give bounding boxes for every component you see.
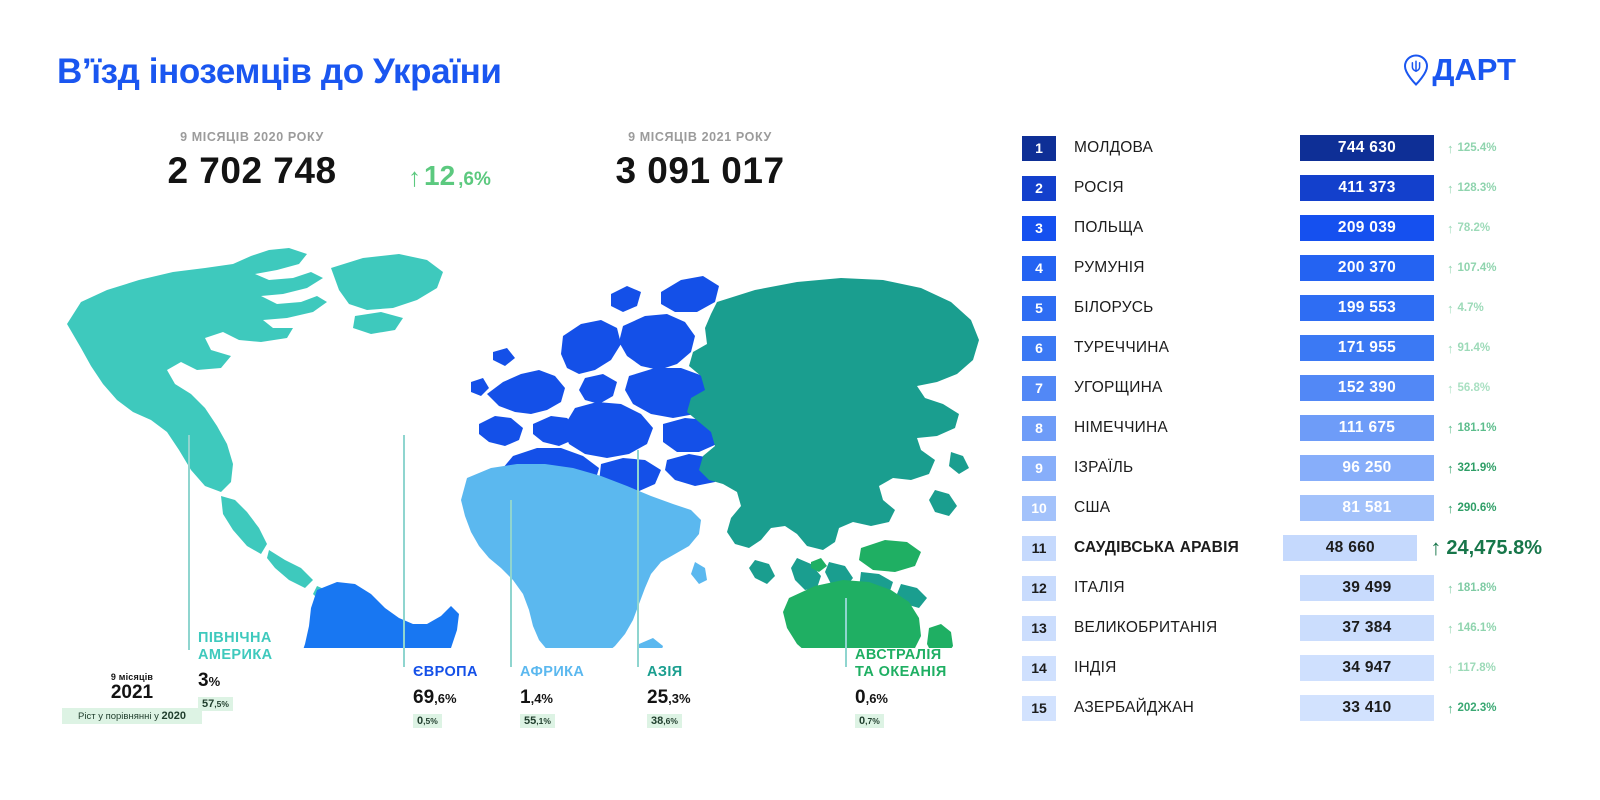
- value-bar: 96 250: [1300, 455, 1434, 481]
- continent-share: 3%: [198, 670, 272, 692]
- table-row[interactable]: 3 ПОЛЬЩА 209 039 ↑ 78.2%: [1022, 208, 1542, 248]
- rank-badge: 13: [1022, 616, 1056, 641]
- growth-percent: ↑ 117.8%: [1434, 662, 1542, 675]
- growth-percent: ↑ 24,475.8%: [1417, 537, 1542, 560]
- table-row[interactable]: 6 ТУРЕЧЧИНА 171 955 ↑ 91.4%: [1022, 328, 1542, 368]
- arrow-up-icon: ↑: [1430, 537, 1441, 559]
- growth-integer: 57: [202, 698, 214, 710]
- continent-name-line2: ТА ОКЕАНІЯ: [855, 664, 947, 680]
- rank-badge: 12: [1022, 576, 1056, 601]
- growth-percent: ↑ 202.3%: [1434, 702, 1542, 715]
- delta-integer: 12: [424, 160, 455, 192]
- delta-fraction: ,6%: [458, 169, 491, 191]
- callout-stem: [845, 598, 847, 667]
- country-name: ІТАЛІЯ: [1056, 579, 1300, 597]
- ranking-table: 1 МОЛДОВА 744 630 ↑ 125.4% 2 РОСІЯ 411 3…: [1022, 128, 1542, 728]
- growth-value: 128.3%: [1458, 182, 1497, 194]
- continent-name-line1: АВСТРАЛІЯ: [855, 647, 942, 663]
- legend-growth-prefix: Ріст у порівнянні у: [78, 711, 161, 722]
- continent-share: 25,3%: [647, 687, 691, 709]
- growth-percent: ↑ 107.4%: [1434, 262, 1542, 275]
- brand-logo: ДАРТ: [1403, 52, 1516, 88]
- value-bar: 744 630: [1300, 135, 1434, 161]
- arrow-up-icon: ↑: [1447, 222, 1454, 235]
- callout-content: АВСТРАЛІЯ ТА ОКЕАНІЯ 0,6% 0,7%: [855, 647, 947, 729]
- share-fraction: ,6%: [866, 691, 888, 706]
- continent-growth: 55,1%: [520, 714, 555, 728]
- continent-growth: 38,6%: [647, 714, 682, 728]
- value-bar: 81 581: [1300, 495, 1434, 521]
- growth-percent: ↑ 181.8%: [1434, 582, 1542, 595]
- continent-growth: 57,5%: [198, 697, 233, 711]
- country-name: МОЛДОВА: [1056, 139, 1300, 157]
- stat-value-2021: 3 091 017: [600, 150, 800, 192]
- arrow-up-icon: ↑: [1447, 182, 1454, 195]
- share-integer: 0: [855, 687, 866, 708]
- share-fraction: ,3%: [668, 691, 690, 706]
- country-name: УГОРЩИНА: [1056, 379, 1300, 397]
- country-name: ВЕЛИКОБРИТАНІЯ: [1056, 619, 1300, 637]
- rank-badge: 7: [1022, 376, 1056, 401]
- growth-value: 181.8%: [1458, 582, 1497, 594]
- country-name: САУДІВСЬКА АРАВІЯ: [1056, 539, 1283, 557]
- continent-name-line1: АФРИКА: [520, 664, 584, 680]
- growth-percent: ↑ 125.4%: [1434, 142, 1542, 155]
- continent-share: 69,6%: [413, 687, 478, 709]
- arrow-up-icon: ↑: [1447, 302, 1454, 315]
- stat-block-2021: 9 МІСЯЦІВ 2021 РОКУ 3 091 017: [600, 130, 800, 192]
- continent-name-line1: АЗІЯ: [647, 664, 683, 680]
- growth-fraction: ,5%: [423, 716, 438, 726]
- legend-year: 2021: [62, 682, 202, 704]
- growth-percent: ↑ 146.1%: [1434, 622, 1542, 635]
- stat-block-2020: 9 МІСЯЦІВ 2020 РОКУ 2 702 748: [152, 130, 352, 192]
- arrow-up-icon: ↑: [1447, 262, 1454, 275]
- growth-value: 290.6%: [1458, 502, 1497, 514]
- growth-value: 125.4%: [1458, 142, 1497, 154]
- rank-badge: 9: [1022, 456, 1056, 481]
- continent-growth: 0,7%: [855, 714, 884, 728]
- table-row[interactable]: 11 САУДІВСЬКА АРАВІЯ 48 660 ↑ 24,475.8%: [1022, 528, 1542, 568]
- map-region-australia-oceania: [783, 540, 961, 648]
- value-bar: 39 499: [1300, 575, 1434, 601]
- arrow-up-icon: ↑: [1447, 462, 1454, 475]
- growth-percent: ↑ 56.8%: [1434, 382, 1542, 395]
- table-row[interactable]: 1 МОЛДОВА 744 630 ↑ 125.4%: [1022, 128, 1542, 168]
- table-row[interactable]: 14 ІНДІЯ 34 947 ↑ 117.8%: [1022, 648, 1542, 688]
- page-title: В’їзд іноземців до України: [57, 52, 502, 92]
- growth-value: 91.4%: [1458, 342, 1491, 354]
- callout-content: ЄВРОПА 69,6% 0,5%: [413, 664, 478, 729]
- growth-percent: ↑ 4.7%: [1434, 302, 1542, 315]
- arrow-up-icon: ↑: [408, 164, 421, 190]
- rank-badge: 1: [1022, 136, 1056, 161]
- continent-growth: 0,5%: [413, 714, 442, 728]
- table-row[interactable]: 4 РУМУНІЯ 200 370 ↑ 107.4%: [1022, 248, 1542, 288]
- table-row[interactable]: 12 ІТАЛІЯ 39 499 ↑ 181.8%: [1022, 568, 1542, 608]
- continent-share: 0,6%: [855, 687, 947, 709]
- growth-value: 117.8%: [1458, 662, 1496, 674]
- growth-value: 24,475.8%: [1446, 537, 1542, 560]
- arrow-up-icon: ↑: [1447, 342, 1454, 355]
- share-fraction: ,6%: [434, 691, 456, 706]
- rank-badge: 15: [1022, 696, 1056, 721]
- growth-value: 107.4%: [1458, 262, 1497, 274]
- value-bar: 171 955: [1300, 335, 1434, 361]
- share-integer: 25: [647, 687, 668, 708]
- value-bar: 34 947: [1300, 655, 1434, 681]
- rank-badge: 11: [1022, 536, 1056, 561]
- continent-share: 1,4%: [520, 687, 584, 709]
- growth-value: 146.1%: [1458, 622, 1497, 634]
- value-bar: 199 553: [1300, 295, 1434, 321]
- delta-badge: ↑ 12 ,6%: [408, 160, 491, 192]
- stat-label-2021: 9 МІСЯЦІВ 2021 РОКУ: [600, 130, 800, 144]
- callout-stem: [188, 435, 190, 650]
- value-bar: 37 384: [1300, 615, 1434, 641]
- country-name: ІЗРАЇЛЬ: [1056, 459, 1300, 477]
- country-name: ПОЛЬЩА: [1056, 219, 1300, 237]
- growth-value: 202.3%: [1458, 702, 1497, 714]
- growth-value: 4.7%: [1458, 302, 1484, 314]
- world-map: [55, 228, 1005, 648]
- legend-key: 9 місяців 2021 Ріст у порівнянні у 2020: [62, 672, 202, 724]
- map-region-north-america: [67, 248, 443, 628]
- rank-badge: 3: [1022, 216, 1056, 241]
- legend-growth-year: 2020: [161, 710, 185, 722]
- growth-fraction: ,1%: [536, 716, 551, 726]
- country-name: ІНДІЯ: [1056, 659, 1300, 677]
- table-row[interactable]: 2 РОСІЯ 411 373 ↑ 128.3%: [1022, 168, 1542, 208]
- arrow-up-icon: ↑: [1447, 702, 1454, 715]
- legend-period-label: 9 місяців: [62, 672, 202, 682]
- map-region-africa: [461, 464, 707, 648]
- growth-integer: 55: [524, 715, 536, 727]
- brand-name: ДАРТ: [1432, 52, 1516, 88]
- table-row[interactable]: 10 США 81 581 ↑ 290.6%: [1022, 488, 1542, 528]
- country-name: НІМЕЧЧИНА: [1056, 419, 1300, 437]
- rank-badge: 5: [1022, 296, 1056, 321]
- callout-content: ПІВНІЧНА АМЕРИКА 3% 57,5%: [198, 630, 272, 712]
- rank-badge: 6: [1022, 336, 1056, 361]
- table-row[interactable]: 7 УГОРЩИНА 152 390 ↑ 56.8%: [1022, 368, 1542, 408]
- country-name: БІЛОРУСЬ: [1056, 299, 1300, 317]
- infographic-page: В’їзд іноземців до України ДАРТ 9 МІСЯЦІ…: [0, 0, 1600, 800]
- growth-fraction: ,7%: [865, 716, 880, 726]
- value-bar: 200 370: [1300, 255, 1434, 281]
- continent-name-line1: ПІВНІЧНА: [198, 630, 272, 646]
- table-row[interactable]: 8 НІМЕЧЧИНА 111 675 ↑ 181.1%: [1022, 408, 1542, 448]
- callout-content: АФРИКА 1,4% 55,1%: [520, 664, 584, 729]
- table-row[interactable]: 13 ВЕЛИКОБРИТАНІЯ 37 384 ↑ 146.1%: [1022, 608, 1542, 648]
- growth-value: 56.8%: [1458, 382, 1491, 394]
- share-integer: 69: [413, 687, 434, 708]
- rank-badge: 4: [1022, 256, 1056, 281]
- arrow-up-icon: ↑: [1447, 622, 1454, 635]
- value-bar: 33 410: [1300, 695, 1434, 721]
- arrow-up-icon: ↑: [1447, 382, 1454, 395]
- rank-badge: 14: [1022, 656, 1056, 681]
- growth-percent: ↑ 290.6%: [1434, 502, 1542, 515]
- growth-fraction: ,6%: [663, 716, 678, 726]
- map-region-asia: [687, 278, 979, 608]
- callout-stem: [403, 435, 405, 667]
- continent-name-line1: ЄВРОПА: [413, 664, 478, 680]
- share-integer: 1: [520, 687, 531, 708]
- arrow-up-icon: ↑: [1447, 662, 1454, 675]
- table-row[interactable]: 9 ІЗРАЇЛЬ 96 250 ↑ 321.9%: [1022, 448, 1542, 488]
- value-bar: 152 390: [1300, 375, 1434, 401]
- legend-growth-note: Ріст у порівнянні у 2020: [62, 708, 202, 724]
- table-row[interactable]: 5 БІЛОРУСЬ 199 553 ↑ 4.7%: [1022, 288, 1542, 328]
- growth-value: 78.2%: [1458, 222, 1491, 234]
- callout-stem: [637, 450, 639, 667]
- country-name: США: [1056, 499, 1300, 517]
- country-name: АЗЕРБАЙДЖАН: [1056, 699, 1300, 717]
- growth-percent: ↑ 128.3%: [1434, 182, 1542, 195]
- arrow-up-icon: ↑: [1447, 502, 1454, 515]
- growth-value: 181.1%: [1458, 422, 1497, 434]
- share-fraction: %: [209, 674, 221, 689]
- growth-percent: ↑ 78.2%: [1434, 222, 1542, 235]
- value-bar: 209 039: [1300, 215, 1434, 241]
- growth-percent: ↑ 321.9%: [1434, 462, 1542, 475]
- share-fraction: ,4%: [531, 691, 553, 706]
- map-pin-trident-icon: [1403, 54, 1429, 86]
- table-row[interactable]: 15 АЗЕРБАЙДЖАН 33 410 ↑ 202.3%: [1022, 688, 1542, 728]
- rank-badge: 8: [1022, 416, 1056, 441]
- arrow-up-icon: ↑: [1447, 582, 1454, 595]
- arrow-up-icon: ↑: [1447, 142, 1454, 155]
- value-bar: 111 675: [1300, 415, 1434, 441]
- country-name: РУМУНІЯ: [1056, 259, 1300, 277]
- continent-name-line2: АМЕРИКА: [198, 647, 272, 663]
- rank-badge: 10: [1022, 496, 1056, 521]
- growth-percent: ↑ 181.1%: [1434, 422, 1542, 435]
- callout-stem: [510, 500, 512, 667]
- growth-integer: 38: [651, 715, 663, 727]
- rank-badge: 2: [1022, 176, 1056, 201]
- country-name: РОСІЯ: [1056, 179, 1300, 197]
- country-name: ТУРЕЧЧИНА: [1056, 339, 1300, 357]
- value-bar: 48 660: [1283, 535, 1417, 561]
- growth-fraction: ,5%: [214, 699, 229, 709]
- growth-value: 321.9%: [1458, 462, 1497, 474]
- stat-value-2020: 2 702 748: [152, 150, 352, 192]
- growth-percent: ↑ 91.4%: [1434, 342, 1542, 355]
- stat-label-2020: 9 МІСЯЦІВ 2020 РОКУ: [152, 130, 352, 144]
- callout-content: АЗІЯ 25,3% 38,6%: [647, 664, 691, 729]
- arrow-up-icon: ↑: [1447, 422, 1454, 435]
- value-bar: 411 373: [1300, 175, 1434, 201]
